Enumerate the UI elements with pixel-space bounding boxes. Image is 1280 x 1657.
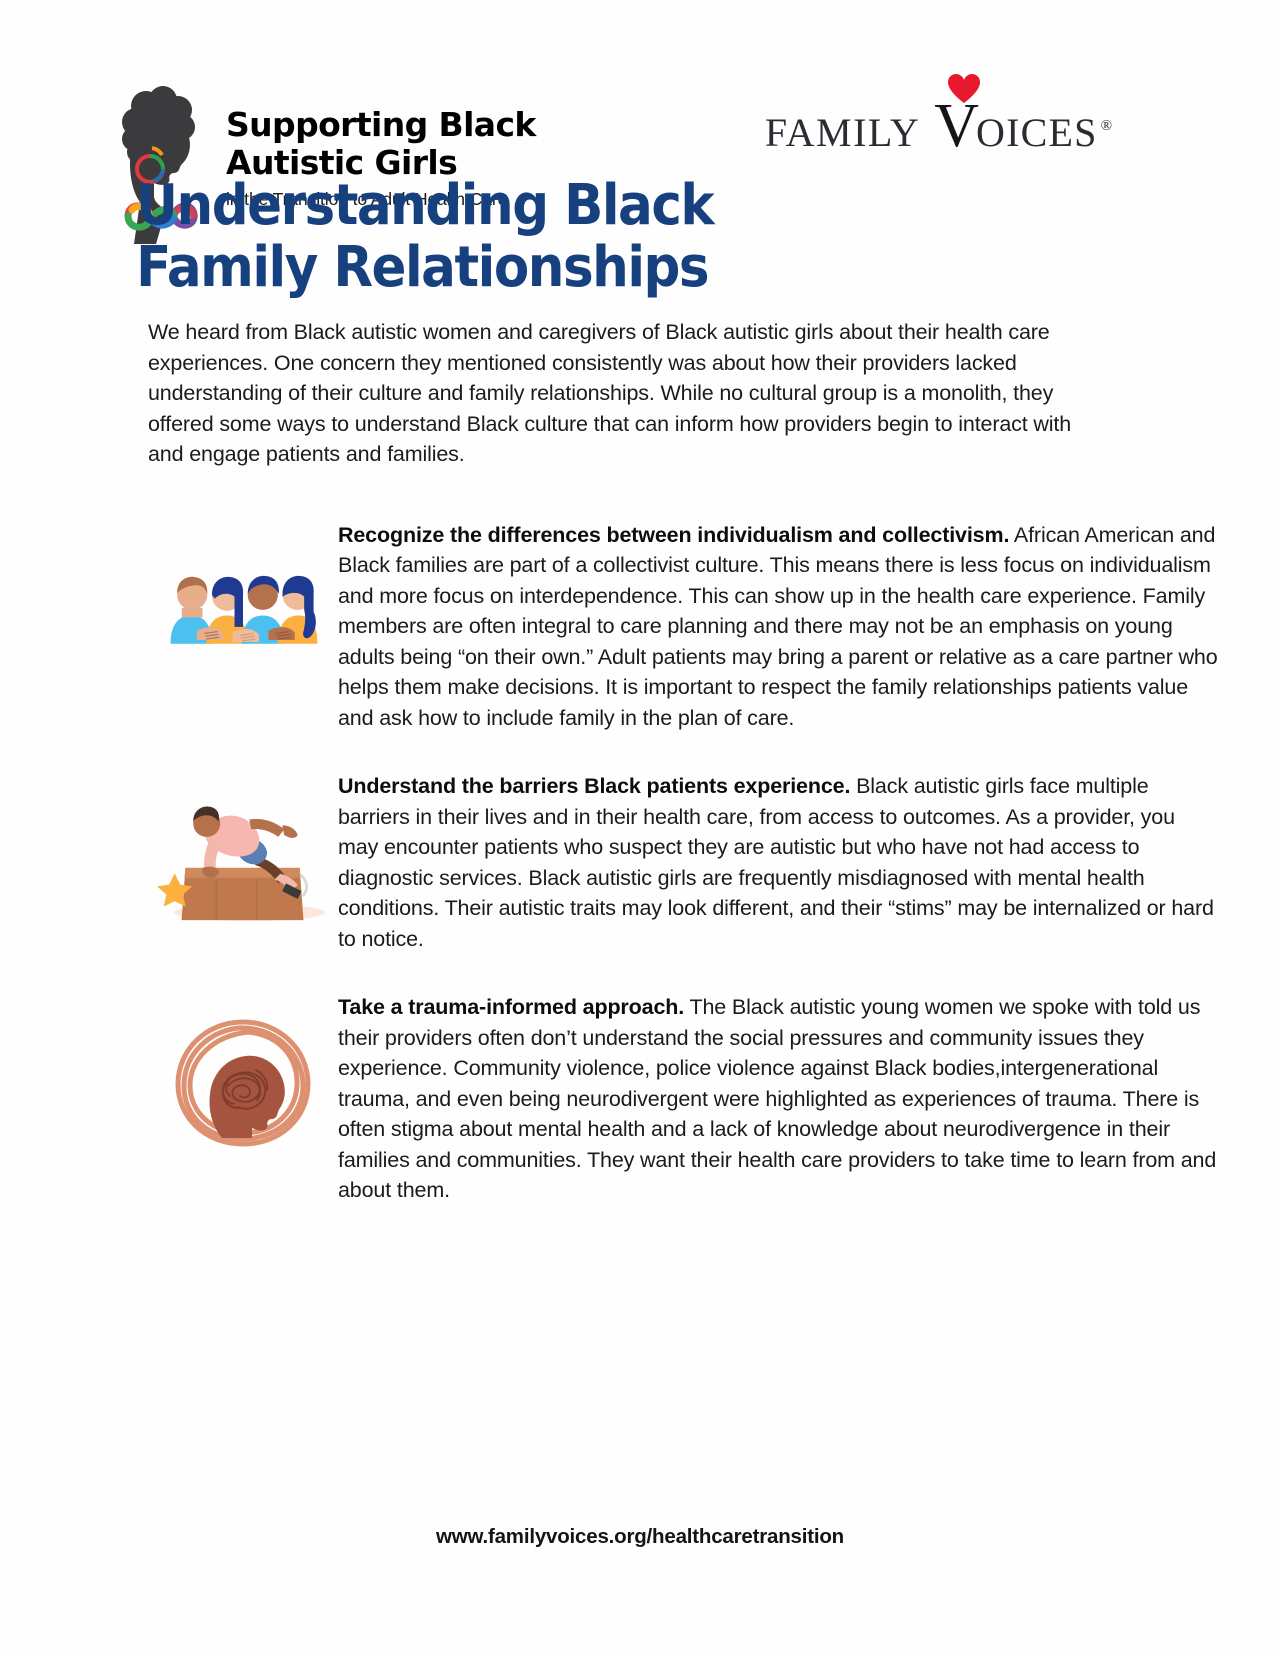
section-item: Recognize the differences between indivi…	[0, 518, 1280, 734]
document-header: Supporting Black Autistic Girls in the T…	[0, 0, 1280, 175]
group-of-people-embracing-illustration	[163, 540, 323, 649]
family-voices-logo: FAMILY V OICES ®	[765, 100, 1112, 156]
section-item: Take a trauma-informed approach. The Bla…	[0, 990, 1280, 1206]
section-heading: Take a trauma-informed approach.	[338, 995, 684, 1019]
section-paragraph: Black autistic girls face multiple barri…	[338, 774, 1214, 951]
person-vaulting-over-wall-illustration	[156, 775, 331, 930]
intro-paragraph: We heard from Black autistic women and c…	[0, 317, 1075, 470]
section-paragraph: African American and Black families are …	[338, 523, 1218, 730]
section-text: Take a trauma-informed approach. The Bla…	[338, 990, 1218, 1206]
section-heading: Understand the barriers Black patients e…	[338, 774, 850, 798]
document-page: Supporting Black Autistic Girls in the T…	[0, 0, 1280, 1657]
family-voices-word-oices: OICES	[976, 109, 1098, 156]
section-figure	[148, 990, 338, 1157]
registered-trademark-icon: ®	[1101, 118, 1112, 135]
page-title: Understanding Black Family Relationships	[0, 175, 865, 299]
section-figure	[148, 769, 338, 930]
brand-title-line-1: Supporting Black	[226, 106, 536, 144]
family-voices-letter-v: V	[934, 92, 979, 160]
section-item: Understand the barriers Black patients e…	[0, 769, 1280, 954]
section-paragraph: The Black autistic young women we spoke …	[338, 995, 1216, 1202]
section-heading: Recognize the differences between indivi…	[338, 523, 1003, 547]
family-voices-word-family: FAMILY	[765, 109, 920, 156]
sections-list: Recognize the differences between indivi…	[0, 518, 1280, 1206]
section-text: Recognize the differences between indivi…	[338, 518, 1218, 734]
head-silhouette-tangled-thoughts-illustration	[168, 1012, 318, 1157]
footer-url[interactable]: www.familyvoices.org/healthcaretransitio…	[0, 1525, 1280, 1549]
family-voices-v-with-heart: V	[934, 100, 979, 152]
section-figure	[148, 518, 338, 649]
section-text: Understand the barriers Black patients e…	[338, 769, 1218, 954]
